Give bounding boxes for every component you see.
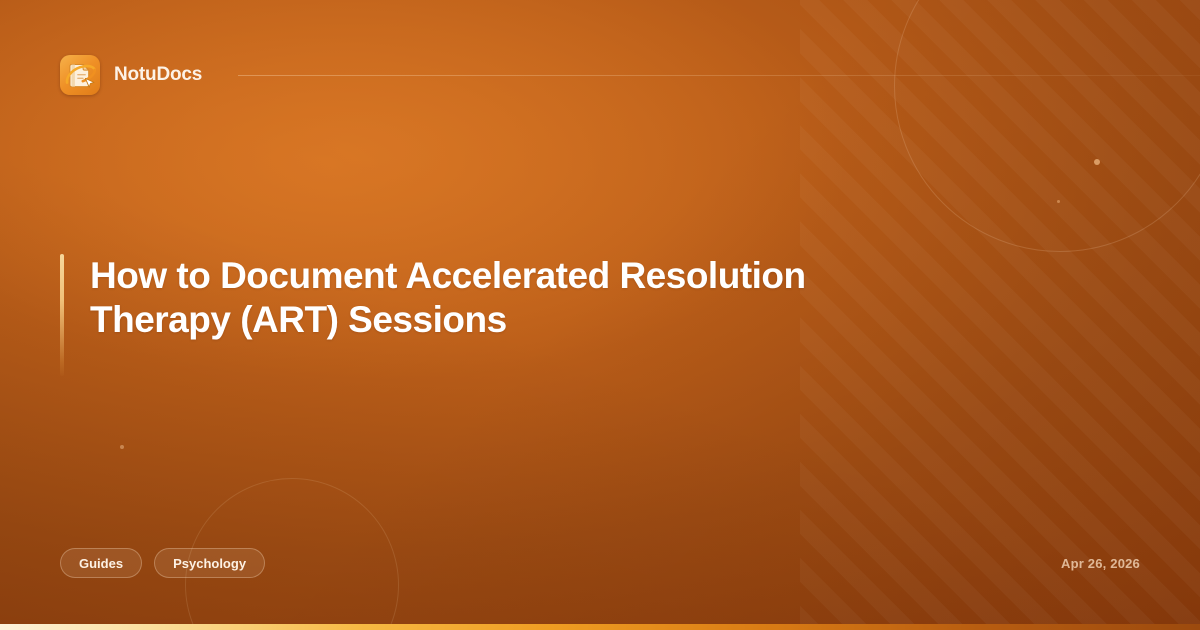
- brand-name: NotuDocs: [114, 64, 202, 86]
- publish-date: Apr 26, 2026: [1061, 556, 1140, 571]
- document-swoosh-cursor-icon[interactable]: [60, 55, 100, 95]
- page-title: How to Document Accelerated Resolution T…: [90, 254, 890, 376]
- footer-bar: Guides Psychology Apr 26, 2026: [60, 548, 1140, 578]
- article-cover-card: NotuDocs How to Document Accelerated Res…: [0, 0, 1200, 630]
- decorative-dot-large: [1094, 159, 1100, 165]
- tag-guides[interactable]: Guides: [60, 548, 142, 578]
- decorative-dot-small: [1057, 200, 1060, 203]
- title-accent-bar: [60, 254, 64, 376]
- title-block: How to Document Accelerated Resolution T…: [60, 254, 920, 376]
- bottom-accent-bar: [0, 624, 1200, 630]
- tag-list: Guides Psychology: [60, 548, 265, 578]
- decorative-dot-left: [120, 445, 124, 449]
- header-bar: NotuDocs: [60, 55, 1200, 95]
- tag-psychology[interactable]: Psychology: [154, 548, 265, 578]
- header-divider: [238, 75, 1200, 76]
